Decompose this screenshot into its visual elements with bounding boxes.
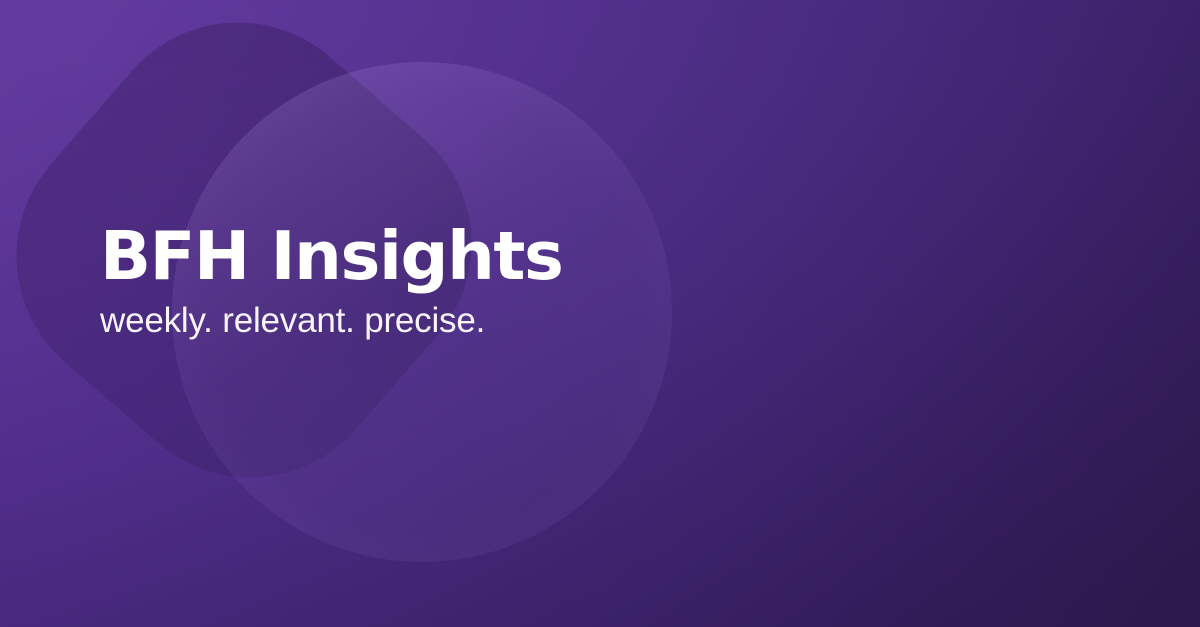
insights-banner: BFH Insights weekly. relevant. precise.	[0, 0, 1200, 627]
banner-tagline: weekly. relevant. precise.	[100, 303, 720, 338]
banner-title: BFH Insights	[100, 223, 720, 290]
banner-content: BFH Insights weekly. relevant. precise.	[100, 223, 720, 338]
